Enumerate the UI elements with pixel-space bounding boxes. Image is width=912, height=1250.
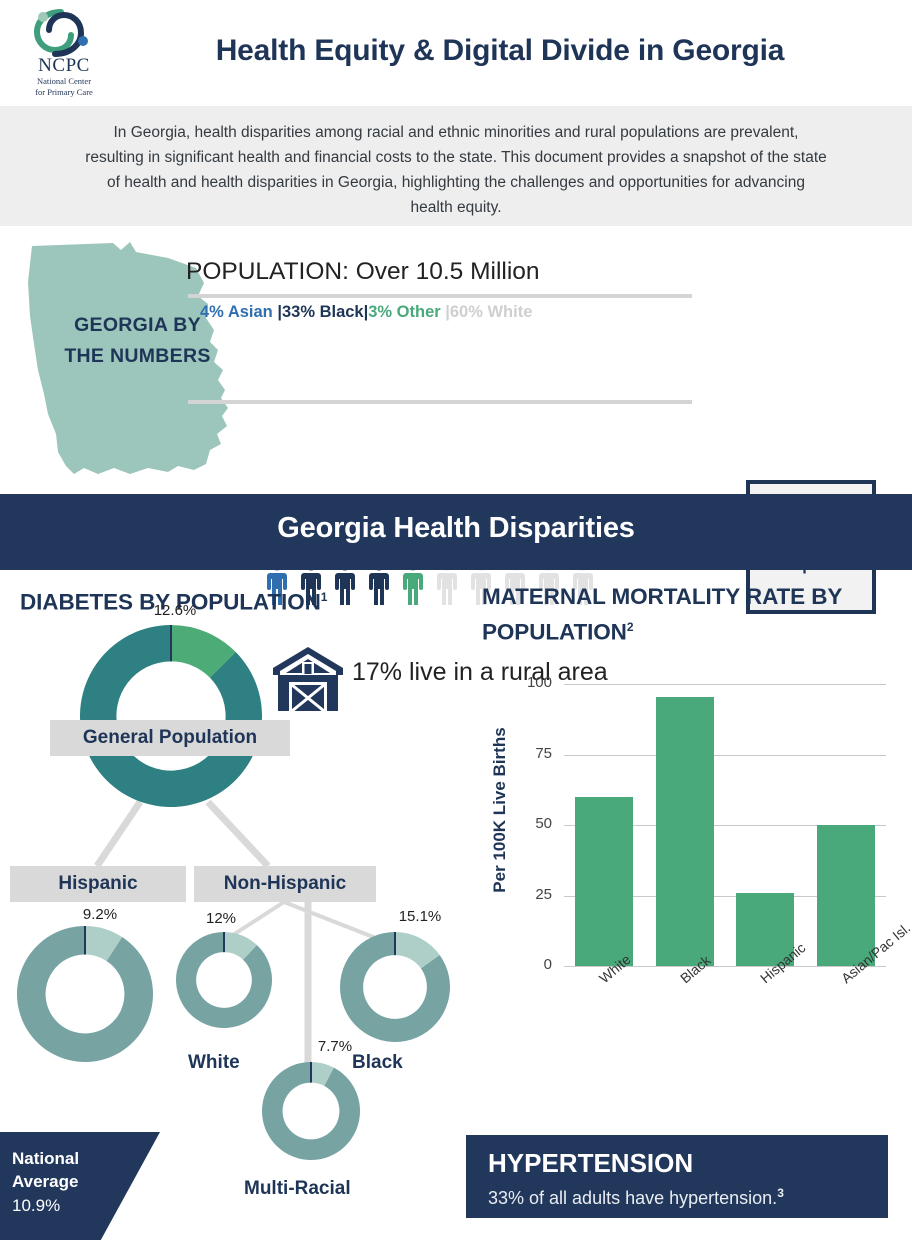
national-average-banner: National Average 10.9% [0,1132,160,1240]
chart-y-tick: 0 [512,956,552,973]
national-average-line1: National [12,1149,79,1168]
population-legend: 4% Asian |33% Black|3% Other |60% White [200,303,680,322]
chart-bar [817,825,875,966]
hypertension-text: 33% of all adults have hypertension.3 [488,1180,888,1211]
donut-multiracial-value: 7.7% [300,1038,370,1055]
disparities-banner-title: Georgia Health Disparities [0,512,912,545]
national-average-title: National Average [12,1147,79,1193]
national-average-value: 10.9% [12,1196,60,1216]
intro-section: In Georgia, health disparities among rac… [0,106,912,226]
pill-hispanic: Hispanic [10,866,186,902]
logo-line2: for Primary Care [23,87,105,97]
donut-white [176,932,272,1028]
logo-line1: National Center [23,76,105,86]
legend-other: 3% Other [368,303,440,321]
donut-general-population [80,625,262,807]
legend-asian: 4% Asian [200,303,273,321]
chart-gridline [564,684,886,685]
intro-paragraph: In Georgia, health disparities among rac… [84,120,828,220]
page-header: NCPC National Center for Primary Care He… [0,0,912,106]
ncpc-logo-text: NCPC National Center for Primary Care [23,56,105,97]
maternal-title: MATERNAL MORTALITY RATE BY POPULATION2 [482,582,912,648]
hypertension-title: HYPERTENSION [488,1148,888,1178]
infographic-page: NCPC National Center for Primary Care He… [0,0,912,1250]
georgia-numbers-section: GEORGIA BY THE NUMBERS POPULATION: Over … [0,228,912,494]
donut-black-value: 15.1% [380,908,460,925]
hypertension-box: HYPERTENSION 33% of all adults have hype… [466,1135,888,1218]
disparities-banner: Georgia Health Disparities [0,494,912,570]
divider-bottom [188,400,692,404]
chart-gridline [564,755,886,756]
maternal-bar-chart: Per 100K Live Births 0255075100WhiteBlac… [462,670,912,1010]
donut-black [340,932,450,1042]
logo-acronym: NCPC [23,56,105,75]
maternal-title-footnote: 2 [627,620,634,634]
label-multiracial: Multi-Racial [244,1178,351,1200]
donut-hispanic [17,926,153,1062]
pill-non-hispanic: Non-Hispanic [194,866,376,902]
page-title: Health Equity & Digital Divide in Georgi… [120,34,880,68]
ncpc-logo-mark-icon [31,8,93,58]
chart-y-axis-label: Per 100K Live Births [490,710,510,910]
chart-plot-area: 0255075100WhiteBlackHispanicAsian/Pac Is… [564,684,886,966]
georgia-map-label: GEORGIA BY THE NUMBERS [60,310,215,372]
chart-y-tick: 75 [512,745,552,762]
population-title: POPULATION: Over 10.5 Million [186,258,540,286]
pill-general-population: General Population [50,720,290,756]
maternal-mortality-section: MATERNAL MORTALITY RATE BY POPULATION2 P… [462,570,912,1130]
chart-y-tick: 50 [512,815,552,832]
donut-general-population-value: 12.6% [130,602,220,619]
national-average-line2: Average [12,1172,78,1191]
legend-white: 60% White [450,303,533,321]
maternal-title-text: MATERNAL MORTALITY RATE BY POPULATION [482,584,842,645]
donut-white-value: 12% [186,910,256,927]
legend-black: 33% Black [282,303,364,321]
ncpc-logo: NCPC National Center for Primary Care [17,8,109,98]
hypertension-statistic: 33% of all adults have hypertension. [488,1188,777,1208]
chart-y-tick: 100 [512,674,552,691]
divider-top [188,294,692,298]
donut-hispanic-value: 9.2% [55,906,145,923]
donut-multiracial [262,1062,360,1160]
label-white: White [188,1052,240,1074]
hypertension-footnote: 3 [777,1186,784,1200]
chart-y-tick: 25 [512,886,552,903]
chart-bar [575,797,633,966]
chart-bar [656,697,714,966]
